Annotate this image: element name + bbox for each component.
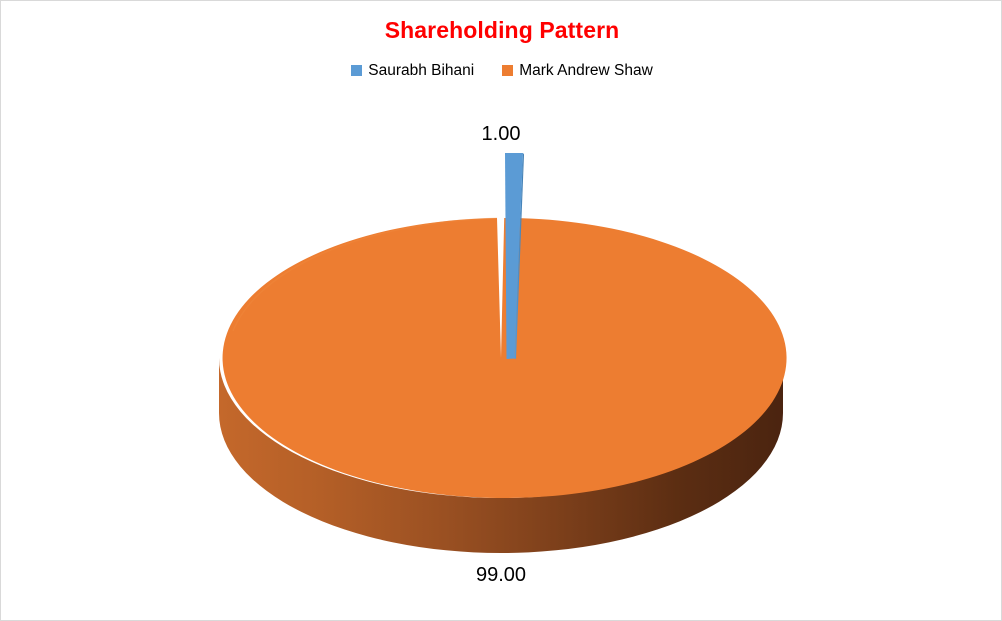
pie-chart-graphic	[1, 1, 1002, 621]
chart-container: Shareholding Pattern Saurabh Bihani Mark…	[0, 0, 1002, 621]
data-label-saurabh-bihani: 1.00	[441, 123, 561, 146]
data-label-mark-andrew-shaw: 99.00	[441, 564, 561, 587]
